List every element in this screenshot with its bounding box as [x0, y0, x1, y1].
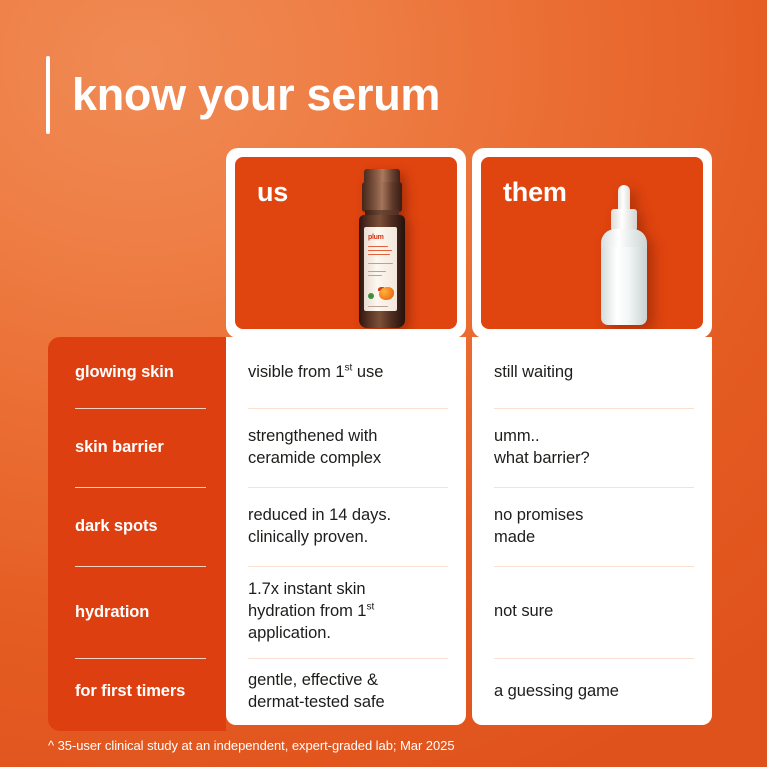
dropper-collar [611, 209, 637, 231]
comparison-cell-them: umm..what barrier? [494, 426, 590, 470]
comparison-column-us: visible from 1st use strengthened withce… [226, 337, 466, 725]
comparison-row: still waiting [494, 337, 694, 408]
comparison-cell-us: gentle, effective &dermat-tested safe [248, 670, 385, 714]
column-label-us: us [257, 177, 288, 208]
comparison-cell-list-them: still waiting umm..what barrier? no prom… [472, 337, 712, 725]
label-text-line [368, 271, 386, 272]
eco-badge-icon [368, 293, 374, 299]
comparison-cell-us: reduced in 14 days.clinically proven. [248, 505, 391, 549]
comparison-row: a guessing game [494, 658, 694, 725]
plum-serum-bottle-icon: plum [353, 169, 411, 329]
label-text-line [368, 246, 388, 247]
column-header-card-us: us plum [226, 148, 466, 338]
label-text-line [368, 306, 388, 307]
comparison-row: reduced in 14 days.clinically proven. [248, 487, 448, 566]
comparison-row: strengthened withceramide complex [248, 408, 448, 487]
comparison-row: visible from 1st use [248, 337, 448, 408]
page-title: know your serum [72, 56, 440, 134]
brand-name: plum [368, 234, 384, 241]
feature-row: glowing skin [75, 337, 226, 408]
dropper-pipette [618, 185, 630, 211]
title-accent-rule [46, 56, 50, 134]
bottle-label: plum [364, 227, 397, 311]
label-text-line [368, 254, 390, 255]
bottle-body [601, 247, 647, 325]
comparison-column-them: still waiting umm..what barrier? no prom… [472, 337, 712, 725]
comparison-cell-them: a guessing game [494, 681, 619, 703]
comparison-row: 1.7x instant skinhydration from 1stappli… [248, 566, 448, 658]
label-text-line [368, 263, 393, 264]
feature-row: skin barrier [75, 408, 226, 487]
feature-label-glowing-skin: glowing skin [75, 362, 174, 383]
column-header-inner-them: them [481, 157, 703, 329]
label-text-line [368, 275, 382, 276]
comparison-cell-them: no promisesmade [494, 505, 583, 549]
feature-label-dark-spots: dark spots [75, 516, 157, 537]
comparison-cell-us: 1.7x instant skinhydration from 1stappli… [248, 579, 374, 645]
comparison-row: no promisesmade [494, 487, 694, 566]
orange-fruit-icon [379, 287, 394, 300]
column-label-them: them [503, 177, 567, 208]
feature-row: for first timers [75, 658, 226, 725]
comparison-cell-them: still waiting [494, 362, 573, 384]
feature-label-list: glowing skin skin barrier dark spots hyd… [48, 337, 226, 731]
feature-label-for-first-timers: for first timers [75, 681, 185, 702]
comparison-row: gentle, effective &dermat-tested safe [248, 658, 448, 725]
feature-label-panel: glowing skin skin barrier dark spots hyd… [48, 337, 226, 731]
column-header-card-them: them [472, 148, 712, 338]
comparison-row: umm..what barrier? [494, 408, 694, 487]
study-footnote: ^ 35-user clinical study at an independe… [48, 738, 455, 753]
label-text-line [368, 250, 392, 251]
bottle-cap [364, 169, 400, 183]
comparison-cell-them: not sure [494, 601, 553, 623]
feature-label-hydration: hydration [75, 602, 149, 623]
comparison-cell-us: strengthened withceramide complex [248, 426, 381, 470]
comparison-cell-list-us: visible from 1st use strengthened withce… [226, 337, 466, 725]
column-header-inner-us: us plum [235, 157, 457, 329]
comparison-cell-us: visible from 1st use [248, 362, 383, 384]
feature-row: dark spots [75, 487, 226, 566]
serum-comparison-poster: know your serum us plum [0, 0, 767, 767]
page-title-block: know your serum [46, 56, 440, 134]
generic-white-dropper-bottle-icon [593, 185, 655, 327]
feature-label-skin-barrier: skin barrier [75, 437, 164, 458]
bottle-pump-collar [362, 182, 402, 212]
comparison-row: not sure [494, 566, 694, 658]
feature-row: hydration [75, 566, 226, 658]
